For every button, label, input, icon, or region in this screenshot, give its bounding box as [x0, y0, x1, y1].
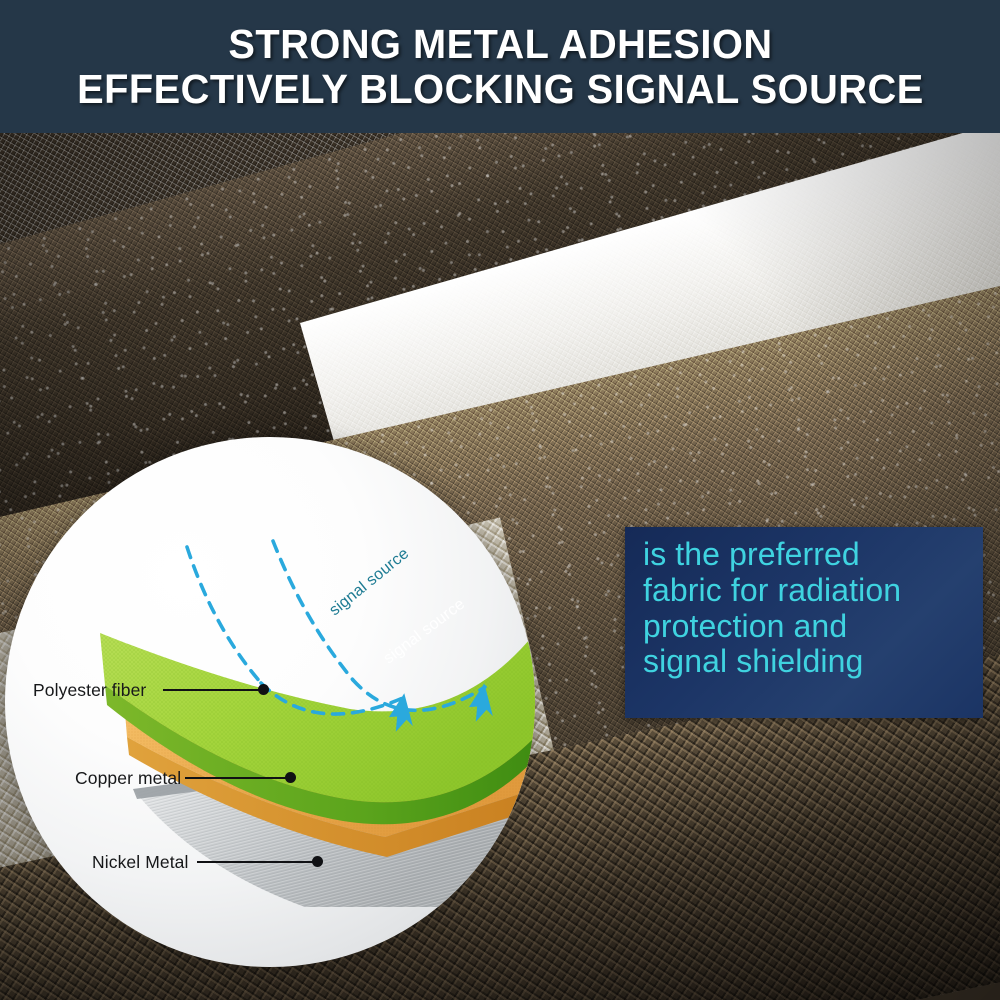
leader-line-polyester — [163, 689, 263, 691]
product-infographic: STRONG METAL ADHESION EFFECTIVELY BLOCKI… — [0, 0, 1000, 1000]
label-nickel-metal: Nickel Metal — [92, 852, 189, 873]
leader-line-copper — [185, 777, 290, 779]
layer-labels: Polyester fiber Copper metal Nickel Meta… — [0, 437, 560, 977]
leader-dot-copper — [285, 772, 296, 783]
label-copper-metal: Copper metal — [75, 768, 181, 789]
marketing-text-panel: is the preferred fabric for radiation pr… — [625, 527, 983, 718]
label-polyester-fiber: Polyester fiber — [33, 680, 146, 701]
header-line-1: STRONG METAL ADHESION — [228, 22, 772, 66]
panel-line-3: protection and — [643, 609, 969, 645]
panel-line-2: fabric for radiation — [643, 573, 969, 609]
panel-line-1: is the preferred — [643, 537, 969, 573]
leader-dot-nickel — [312, 856, 323, 867]
header-banner: STRONG METAL ADHESION EFFECTIVELY BLOCKI… — [0, 0, 1000, 133]
leader-line-nickel — [197, 861, 317, 863]
panel-line-4: signal shielding — [643, 644, 969, 680]
header-line-2: EFFECTIVELY BLOCKING SIGNAL SOURCE — [77, 67, 924, 111]
leader-dot-polyester — [258, 684, 269, 695]
